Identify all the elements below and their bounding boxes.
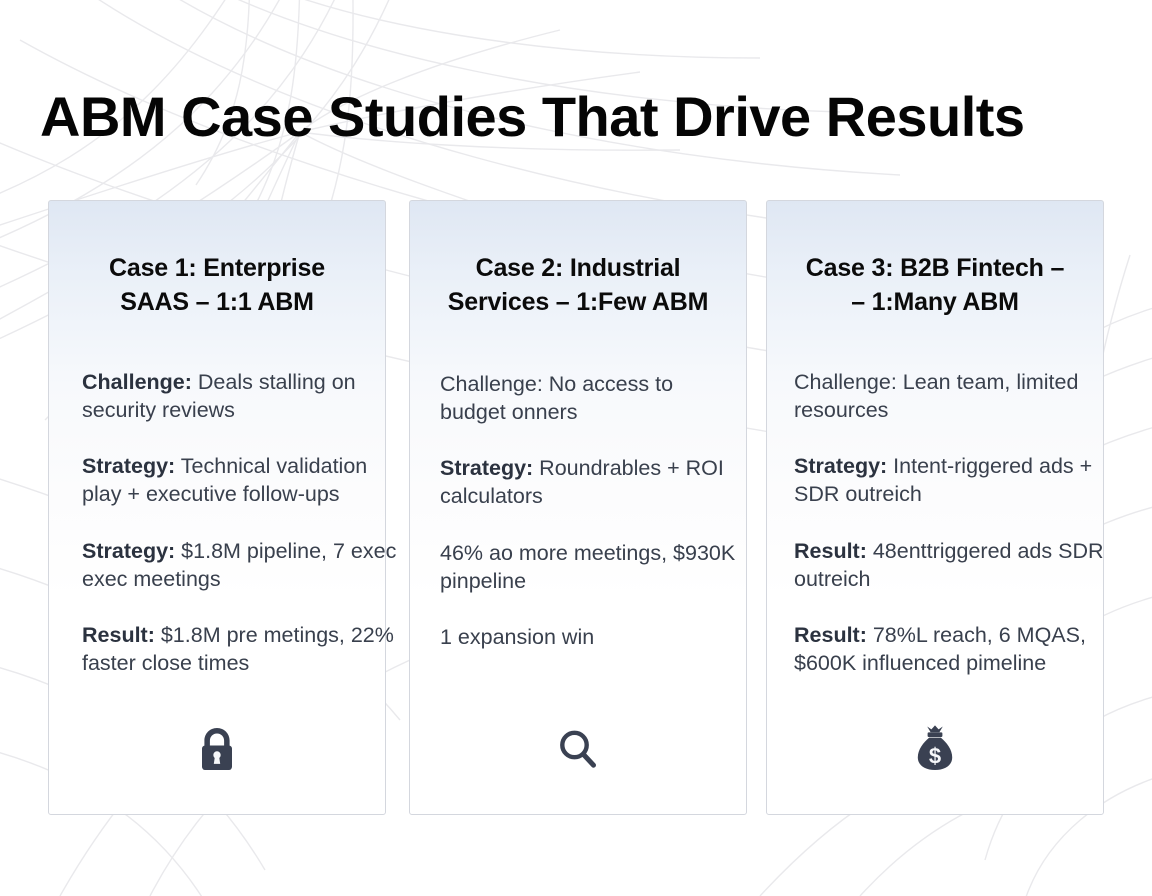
card-1-block-strategy: Strategy: Technical validation play + ex… — [82, 453, 402, 508]
card-2-block-metrics: 46% ao more meetings, $930K pinpeline — [440, 540, 740, 595]
card-3-block-result-2: Result: 78%L reach, 6 MQAS, $600K influe… — [794, 622, 1114, 677]
card-2-block-expansion: 1 expansion win — [440, 624, 740, 652]
card-2-title: Case 2: Industrial Services – 1:Few ABM — [410, 251, 746, 319]
card-1-block-challenge: Challenge: Deals stalling on security re… — [82, 369, 402, 424]
card-1-icon-wrap — [49, 726, 385, 772]
case-study-card-3[interactable]: Case 3: B2B Fintech – – 1:Many ABM Chall… — [766, 200, 1104, 815]
card-2-label-strategy: Strategy: — [440, 456, 533, 480]
slide-root: ABM Case Studies That Drive Results Case… — [0, 0, 1152, 896]
card-1-title: Case 1: Enterprise SAAS – 1:1 ABM — [49, 251, 385, 319]
card-2-body: Challenge: No access to budget onners St… — [440, 371, 740, 652]
card-3-icon-wrap: $ — [767, 724, 1103, 772]
card-2-text-challenge: Challenge: No access to budget onners — [440, 372, 673, 424]
card-1-body: Challenge: Deals stalling on security re… — [82, 369, 402, 678]
card-2-block-strategy: Strategy: Roundrables + ROI calculators — [440, 455, 740, 510]
card-1-block-result: Result: $1.8M pre metings, 22% faster cl… — [82, 622, 402, 677]
card-3-label-result: Result: — [794, 539, 867, 563]
card-3-title: Case 3: B2B Fintech – – 1:Many ABM — [767, 251, 1103, 319]
page-title: ABM Case Studies That Drive Results — [40, 84, 1025, 149]
card-3-label-result-2: Result: — [794, 623, 867, 647]
card-2-text-metrics: 46% ao more meetings, $930K pinpeline — [440, 541, 735, 593]
svg-text:$: $ — [929, 744, 941, 769]
card-3-text-challenge: Challenge: Lean team, limited resources — [794, 370, 1078, 422]
case-study-card-1[interactable]: Case 1: Enterprise SAAS – 1:1 ABM Challe… — [48, 200, 386, 815]
card-1-label-result: Result: — [82, 623, 155, 647]
card-1-block-strategy-2: Strategy: $1.8M pipeline, 7 exec exec me… — [82, 538, 402, 593]
card-1-label-challenge: Challenge: — [82, 370, 192, 394]
card-2-icon-wrap — [410, 728, 746, 772]
card-3-block-strategy: Strategy: Intent-riggered ads + SDR outr… — [794, 453, 1114, 508]
card-3-block-challenge: Challenge: Lean team, limited resources — [794, 369, 1114, 424]
card-1-label-strategy: Strategy: — [82, 454, 175, 478]
card-3-body: Challenge: Lean team, limited resources … — [794, 369, 1114, 678]
case-study-card-2[interactable]: Case 2: Industrial Services – 1:Few ABM … — [409, 200, 747, 815]
card-3-block-result: Result: 48enttriggered ads SDR outreich — [794, 538, 1114, 593]
card-2-text-expansion: 1 expansion win — [440, 625, 594, 649]
card-1-label-strategy-2: Strategy: — [82, 539, 175, 563]
money-bag-icon: $ — [914, 724, 956, 772]
magnifier-icon — [557, 728, 599, 772]
card-3-label-strategy: Strategy: — [794, 454, 887, 478]
card-2-block-challenge: Challenge: No access to budget onners — [440, 371, 740, 426]
lock-icon — [197, 726, 237, 772]
